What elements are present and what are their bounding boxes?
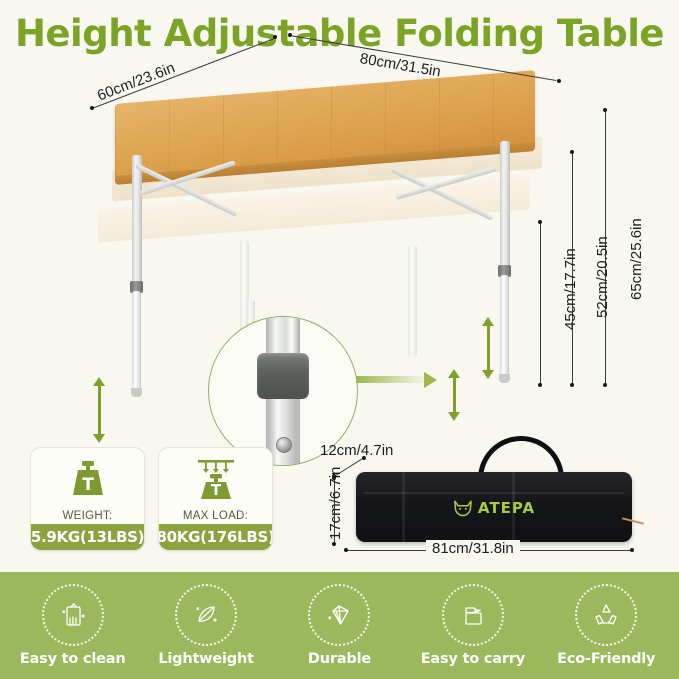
feature-label: Easy to clean	[12, 651, 134, 667]
recycle-icon	[575, 584, 637, 646]
dim-dot	[557, 79, 561, 83]
feature-easy-to-carry: Easy to carry	[412, 584, 534, 667]
carry-bag-icon	[442, 584, 504, 646]
feather-icon	[175, 584, 237, 646]
spec-badge-label: WEIGHT:	[31, 510, 144, 522]
feature-eco-friendly: Eco-Friendly	[545, 584, 667, 667]
feature-durable: Durable	[278, 584, 400, 667]
weight-icon: T	[31, 448, 144, 510]
spec-badge-weight: T WEIGHT: 5.9KG(13LBS)	[30, 447, 145, 551]
diamond-icon	[308, 584, 370, 646]
leg-lock-knob-icon	[276, 437, 292, 453]
table-foot-front-left	[131, 388, 142, 397]
table-leg-front-left	[132, 155, 142, 283]
dim-label-bag-height: 17cm/6.7in	[327, 467, 344, 540]
dim-label-height-low: 45cm/17.7in	[562, 248, 579, 330]
max-load-icon: T	[159, 448, 272, 510]
dim-dot	[570, 150, 574, 154]
dim-dot	[332, 542, 336, 546]
dim-dot	[603, 108, 607, 112]
svg-text:T: T	[82, 475, 94, 495]
dim-dot	[90, 106, 94, 110]
svg-text:T: T	[210, 481, 221, 499]
feature-lightweight: Lightweight	[145, 584, 267, 667]
dim-label-bag-depth: 12cm/4.7in	[320, 442, 393, 459]
leg-tube-lower	[269, 395, 297, 466]
carry-bag: ATEPA	[356, 472, 632, 542]
dim-label-height-mid: 52cm/20.5in	[594, 236, 611, 318]
spec-badge-label: MAX LOAD:	[159, 510, 272, 522]
dim-dot	[570, 383, 574, 387]
dim-dot	[630, 548, 634, 552]
callout-connector-arrow-icon	[424, 372, 437, 388]
spec-badge-value: 5.9KG(13LBS)	[31, 524, 144, 550]
arrow-shaft	[453, 377, 456, 413]
feature-label: Easy to carry	[412, 651, 534, 667]
callout-connector	[356, 376, 428, 383]
product-infographic: Height Adjustable Folding Table	[0, 0, 679, 679]
table-foot-front-right	[499, 374, 510, 383]
wolf-head-icon	[453, 499, 473, 516]
dim-dot	[288, 33, 292, 37]
table-leg-front-right	[500, 141, 510, 267]
leg-lock-clamp	[257, 353, 309, 399]
page-title: Height Adjustable Folding Table	[0, 12, 679, 55]
wipe-clean-icon	[42, 584, 104, 646]
arrow-head-down-icon	[448, 412, 460, 421]
dim-dot	[538, 383, 542, 387]
bag-seam	[402, 472, 405, 542]
feature-label: Durable	[278, 651, 400, 667]
feature-easy-to-clean: Easy to clean	[12, 584, 134, 667]
height-adjust-arrow-right-lower	[448, 369, 460, 421]
arrow-shaft	[487, 325, 490, 371]
spec-badge-value: 80KG(176LBS)	[159, 524, 272, 550]
dim-dot	[538, 220, 542, 224]
feature-strip: Easy to clean Lightweight	[0, 572, 679, 679]
bag-brand-label: ATEPA	[478, 499, 535, 517]
dim-dot	[273, 35, 277, 39]
height-adjust-arrow-left	[93, 377, 105, 443]
bag-logo: ATEPA	[453, 499, 535, 517]
table-leg-ghost-2	[408, 245, 417, 357]
feature-label: Lightweight	[145, 651, 267, 667]
dim-dot	[603, 383, 607, 387]
table-leg-lower-front-left	[132, 291, 141, 389]
height-adjust-arrow-right-upper	[482, 317, 494, 379]
arrow-head-down-icon	[93, 434, 105, 443]
bag-pull-strap	[622, 517, 644, 524]
feature-label: Eco-Friendly	[545, 651, 667, 667]
dim-line-height-low	[540, 222, 541, 385]
arrow-head-down-icon	[482, 370, 494, 379]
dim-label-bag-length: 81cm/31.8in	[426, 540, 520, 557]
spec-badge-max-load: T MAX LOAD: 80KG(176LBS)	[158, 447, 273, 551]
dim-label-height-high: 65cm/25.6in	[628, 218, 645, 300]
table-leg-lower-front-right	[500, 275, 509, 375]
dim-dot	[344, 548, 348, 552]
arrow-shaft	[98, 385, 101, 435]
